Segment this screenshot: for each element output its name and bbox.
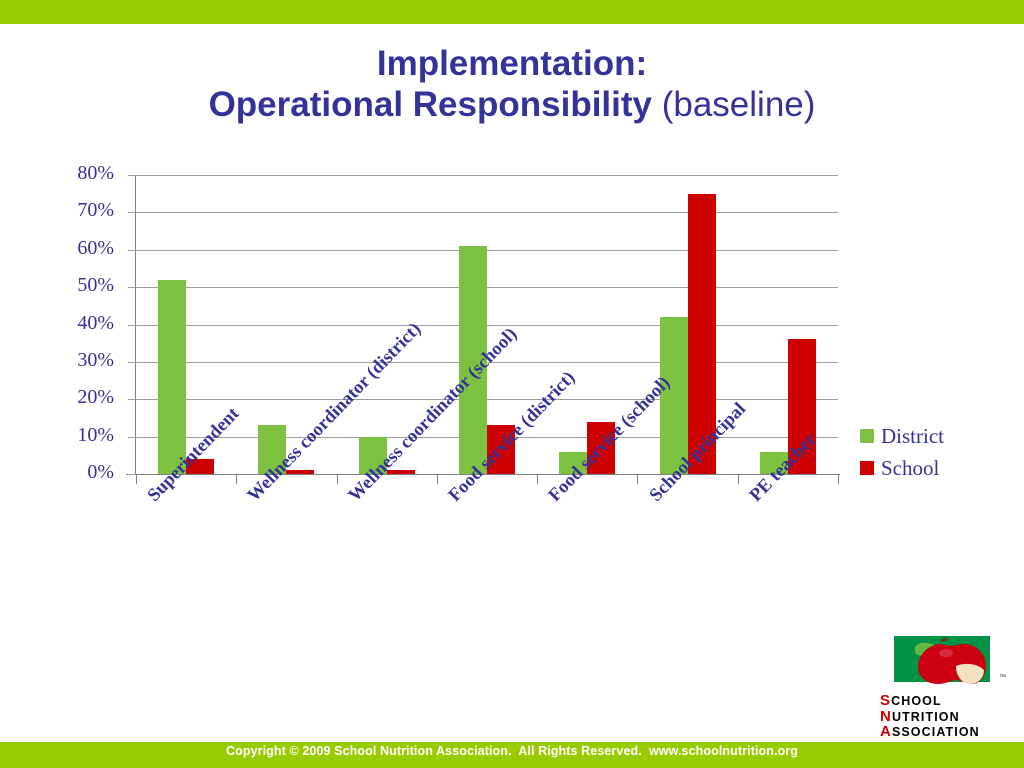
logo-school-cap: S [880, 693, 891, 709]
gridline [136, 399, 838, 400]
legend-item-school[interactable]: School [860, 452, 944, 484]
gridline [136, 250, 838, 251]
logo-line-nutrition: NUTRITION [880, 709, 1004, 725]
logo-school-rest: CHOOL [891, 695, 942, 708]
y-axis-label: 60% [14, 237, 114, 260]
x-axis-category-tick [537, 474, 538, 484]
gridline [136, 325, 838, 326]
legend-item-district[interactable]: District [860, 420, 944, 452]
logo-nutrition-rest: UTRITION [892, 711, 960, 724]
logo-association-rest: SSOCIATION [892, 726, 980, 739]
y-axis-tick [128, 287, 136, 288]
y-axis-label: 70% [14, 199, 114, 222]
legend-swatch-school [860, 461, 874, 475]
trademark-symbol: ™ [999, 674, 1006, 681]
gridline [136, 287, 838, 288]
y-axis-tick [128, 399, 136, 400]
y-axis-label: 80% [14, 162, 114, 185]
y-axis-label: 40% [14, 312, 114, 335]
apple-logo-icon [880, 636, 1004, 688]
logo-line-association: ASSOCIATION [880, 724, 1004, 740]
bar-district[interactable] [158, 280, 186, 474]
y-axis-label: 30% [14, 349, 114, 372]
y-axis-tick [128, 362, 136, 363]
x-axis-category-tick [637, 474, 638, 484]
y-axis-tick [128, 325, 136, 326]
sna-logo: ™ SCHOOL NUTRITION ASSOCIATION [880, 636, 1004, 732]
x-axis-category-tick [236, 474, 237, 484]
gridline [136, 212, 838, 213]
logo-association-cap: A [880, 724, 892, 740]
x-axis-category-tick [838, 474, 839, 484]
y-axis-tick [128, 212, 136, 213]
y-axis-tick [128, 250, 136, 251]
legend-label-district: District [881, 424, 944, 449]
y-axis-tick [128, 437, 136, 438]
x-axis-category-tick [437, 474, 438, 484]
x-axis-category-tick [337, 474, 338, 484]
legend-label-school: School [881, 456, 939, 481]
y-axis-tick [128, 474, 136, 475]
y-axis-label: 50% [14, 274, 114, 297]
logo-nutrition-cap: N [880, 709, 892, 725]
gridline [136, 175, 838, 176]
y-axis-label: 20% [14, 386, 114, 409]
x-axis-category-tick [738, 474, 739, 484]
x-axis-category-tick [136, 474, 137, 484]
legend-swatch-district [860, 429, 874, 443]
chart-legend: DistrictSchool [860, 420, 944, 484]
bar-chart: DistrictSchool 0%10%20%30%40%50%60%70%80… [0, 0, 1024, 768]
y-axis-label: 0% [14, 461, 114, 484]
logo-line-school: SCHOOL [880, 693, 1004, 709]
y-axis-label: 10% [14, 424, 114, 447]
y-axis-tick [128, 175, 136, 176]
